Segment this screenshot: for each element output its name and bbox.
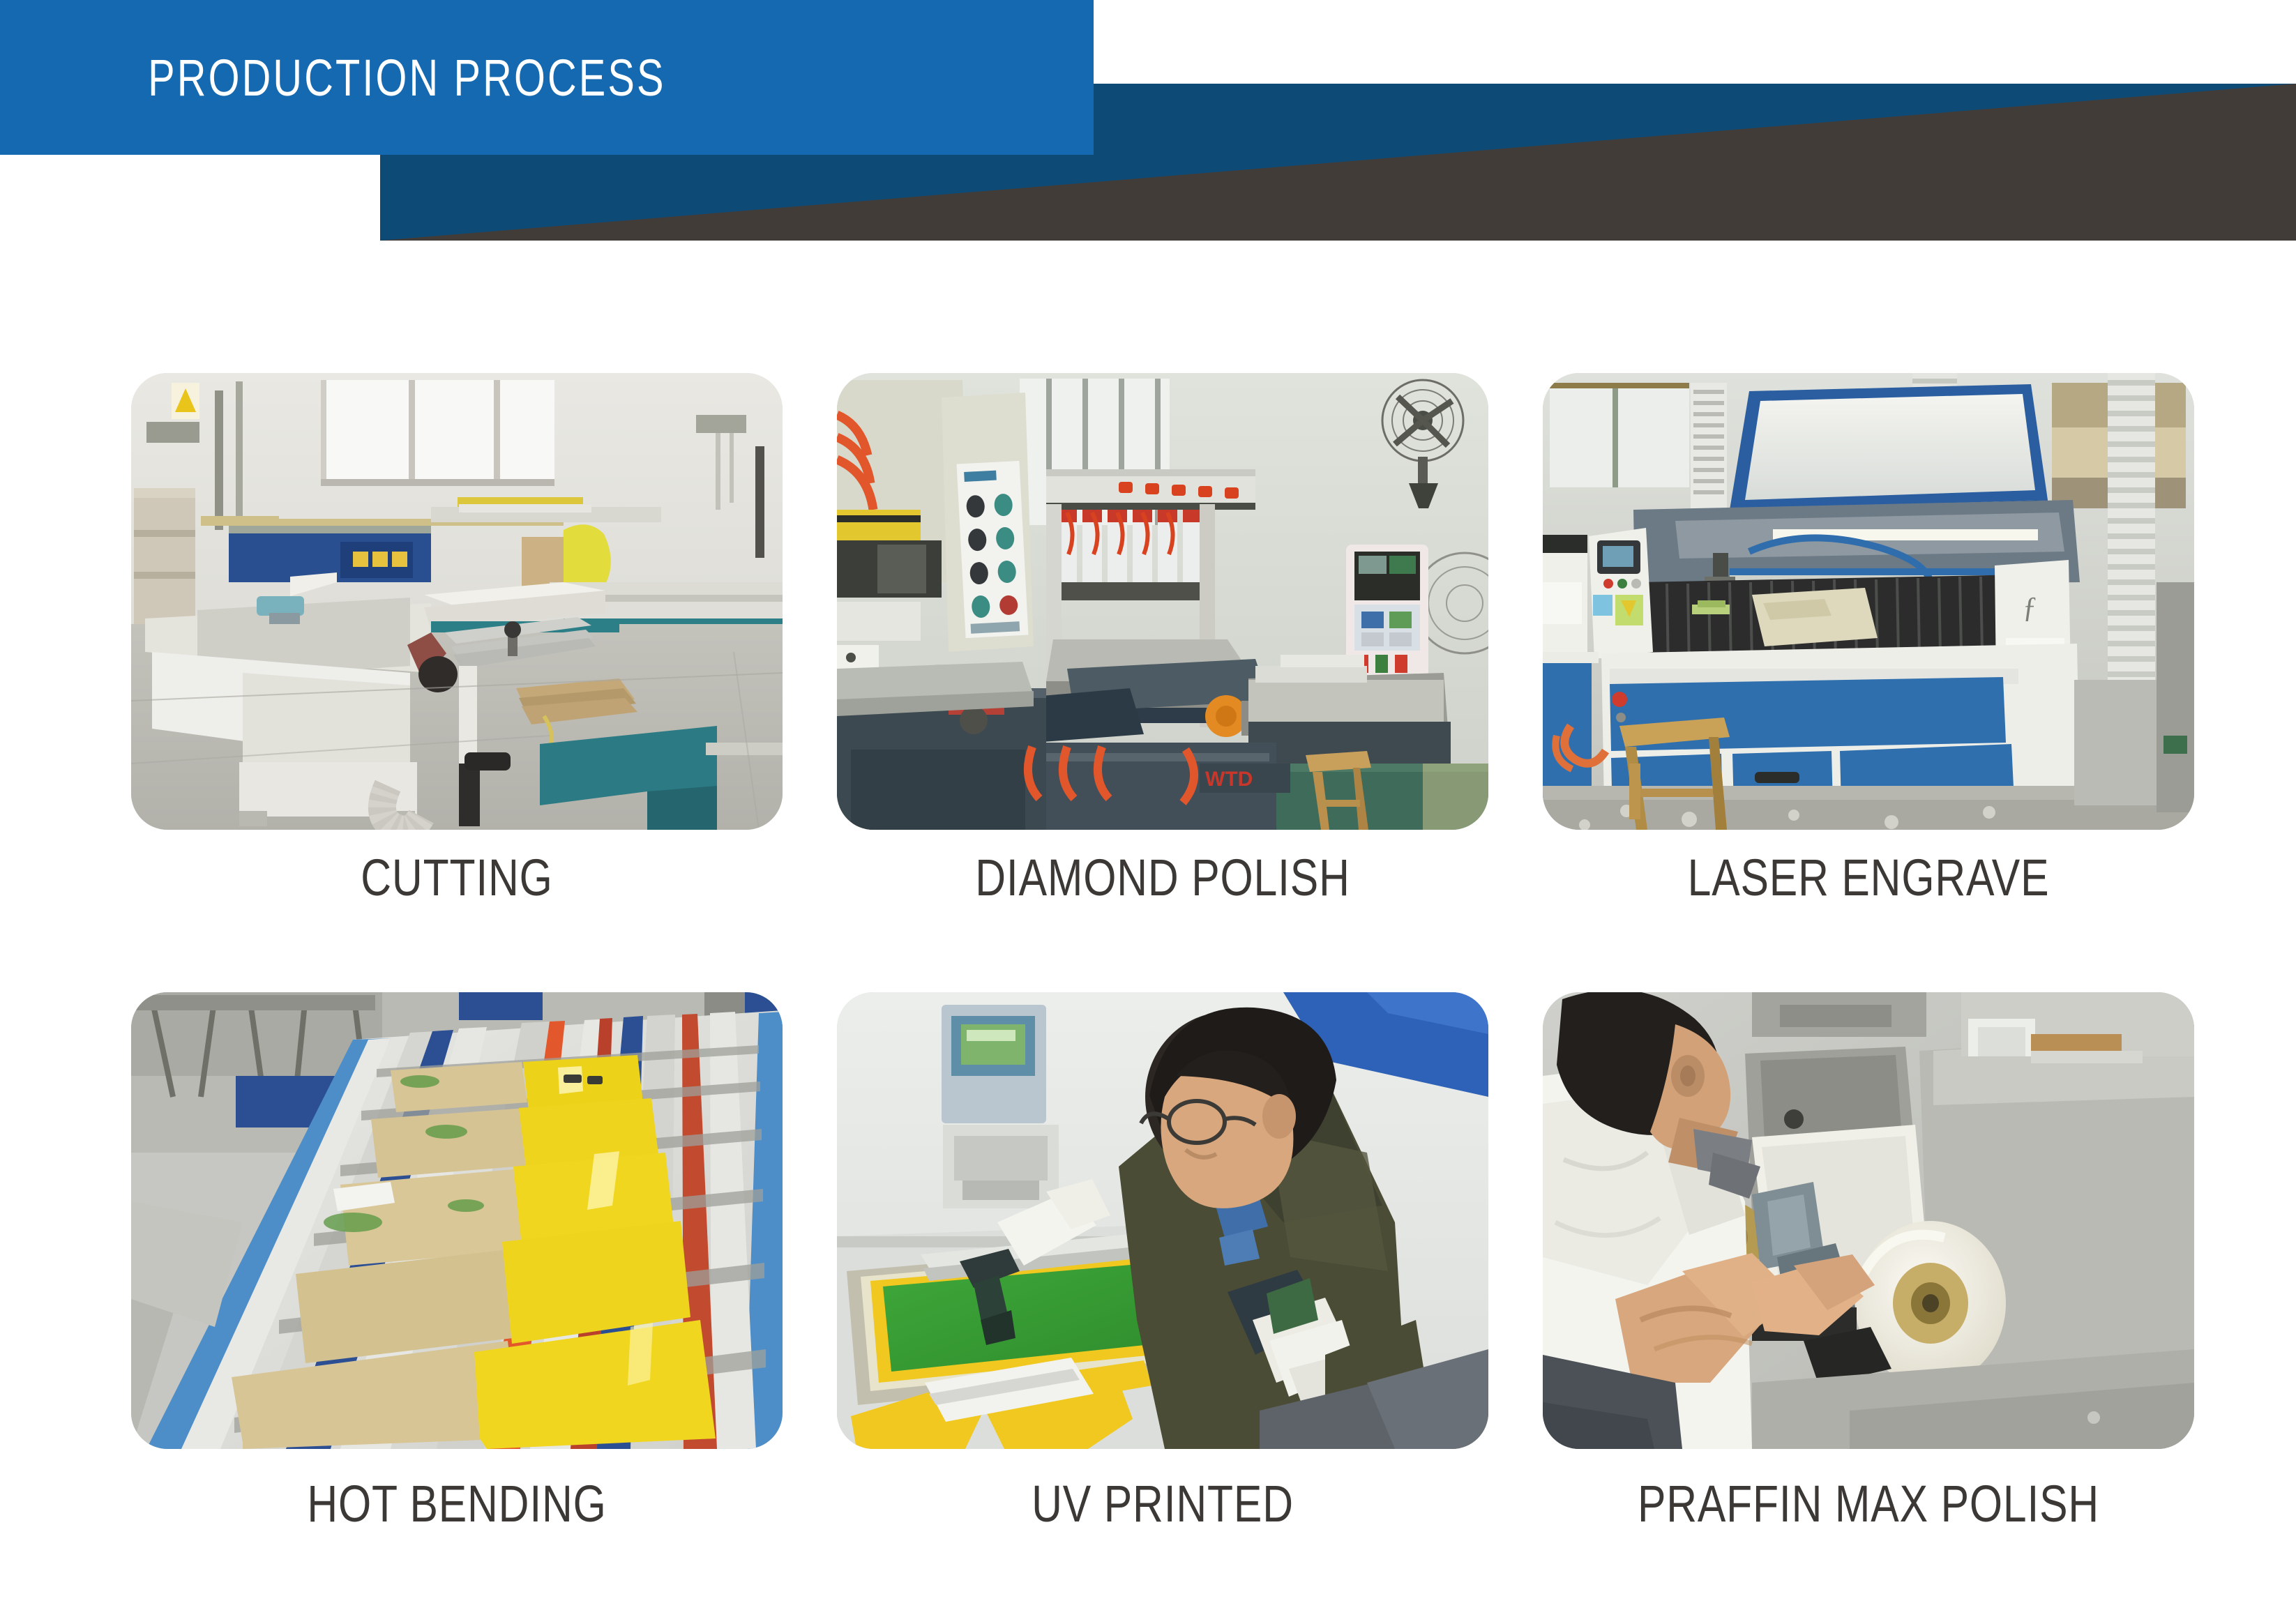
caption-laser-engrave: LASER ENGRAVE <box>1601 848 2136 907</box>
caption-uv-printed: UV PRINTED <box>896 1474 1430 1533</box>
process-row-1: CUTTING <box>131 373 2194 907</box>
uv-screen-printing-worker-photo <box>837 992 1488 1449</box>
svg-text:ƒ: ƒ <box>2023 592 2037 624</box>
paraffin-wheel-polishing-worker-photo <box>1543 992 2194 1449</box>
process-row-2: HOT BENDING <box>131 992 2194 1533</box>
process-card-diamond-polish[interactable]: WTD <box>837 373 1488 907</box>
hot-bending-line-yellow-acrylic-photo <box>131 992 783 1449</box>
production-process-grid: CUTTING <box>131 373 2194 1533</box>
caption-cutting: CUTTING <box>190 848 724 907</box>
process-card-praffin-max-polish[interactable]: PRAFFIN MAX POLISH <box>1543 992 2194 1533</box>
process-card-cutting[interactable]: CUTTING <box>131 373 783 907</box>
caption-diamond-polish: DIAMOND POLISH <box>896 848 1430 907</box>
header-banner: PRODUCTION PROCESS <box>0 0 2296 265</box>
caption-hot-bending: HOT BENDING <box>190 1474 724 1533</box>
panel-saw-cutting-machine-photo <box>131 373 783 830</box>
diamond-polishing-machine-photo: WTD <box>837 373 1488 830</box>
process-card-uv-printed[interactable]: UV PRINTED <box>837 992 1488 1533</box>
caption-praffin-max-polish: PRAFFIN MAX POLISH <box>1601 1474 2136 1533</box>
process-card-hot-bending[interactable]: HOT BENDING <box>131 992 783 1533</box>
page-title: PRODUCTION PROCESS <box>0 0 853 155</box>
process-card-laser-engrave[interactable]: ƒ <box>1543 373 2194 907</box>
laser-engraving-machine-photo: ƒ <box>1543 373 2194 830</box>
svg-text:WTD: WTD <box>1205 768 1253 791</box>
